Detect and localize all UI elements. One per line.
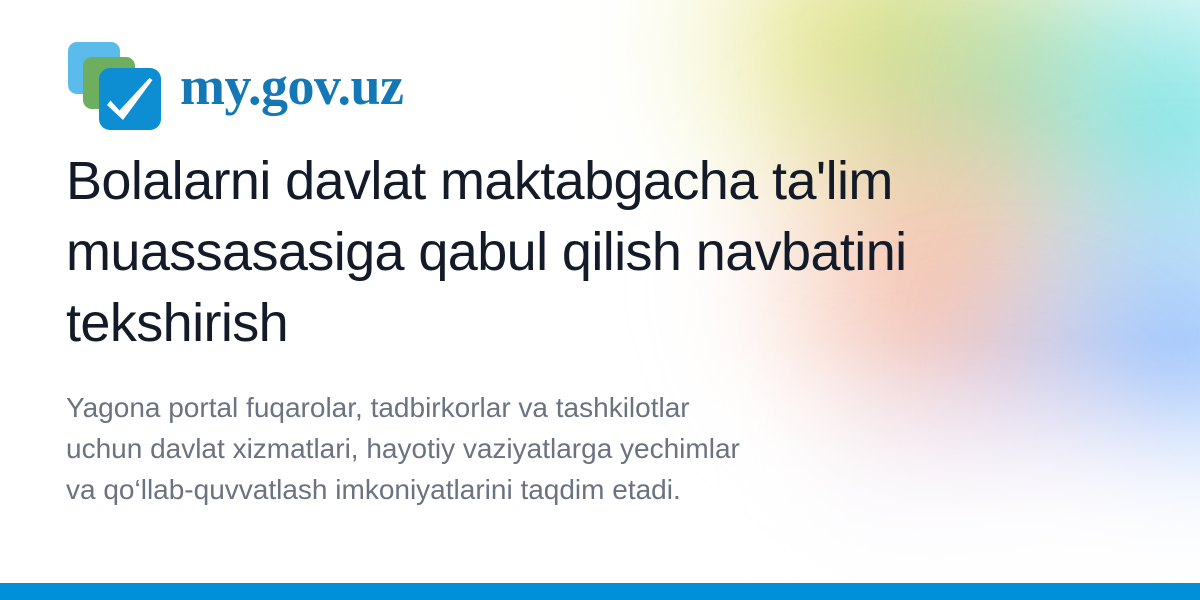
bottom-accent-bar [0, 583, 1200, 600]
page-subtitle: Yagona portal fuqarolar, tadbirkorlar va… [66, 387, 756, 510]
hero-content: my.gov.uz Bolalarni davlat maktabgacha t… [66, 38, 1140, 510]
page-title: Bolalarni davlat maktabgacha ta'lim muas… [66, 146, 1046, 359]
brand-wordmark: my.gov.uz [180, 59, 404, 113]
stacked-check-cards-icon [66, 40, 166, 132]
brand-lockup[interactable]: my.gov.uz [66, 38, 1140, 134]
hero-banner: my.gov.uz Bolalarni davlat maktabgacha t… [0, 0, 1200, 600]
